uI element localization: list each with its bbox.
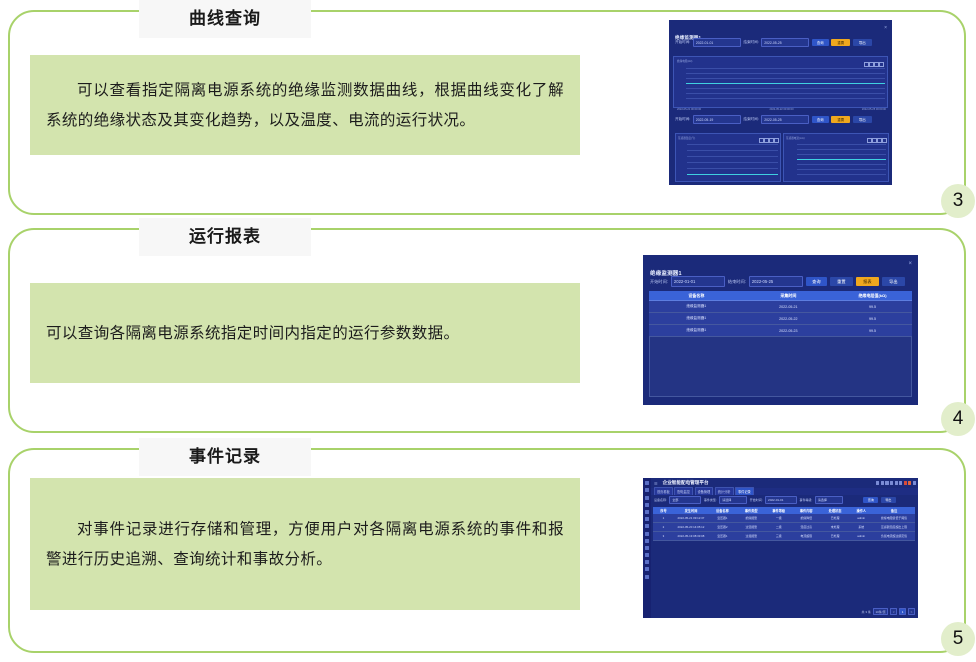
reset-button[interactable]: 重置: [831, 39, 850, 46]
section-operation-report: 运行报表 可以查询各隔离电源系统指定时间内指定的运行参数数据。 绝缘监测器1 ×…: [8, 218, 966, 433]
cell-remark: 负载电流超过额定值: [873, 534, 915, 538]
close-icon[interactable]: ×: [908, 261, 912, 267]
user-icon[interactable]: [913, 481, 916, 484]
cell-operator: admin: [849, 516, 873, 520]
chart-panel-resistance: 绝缘电阻(kΩ): [673, 56, 888, 108]
cell-remark: 互感器温度超出上限: [873, 525, 915, 529]
cell-index: 2: [653, 525, 674, 529]
screenshot-curve-query[interactable]: 绝缘监测器1 × 开始时间: 2022-01-01 结束时间: 2022-05-…: [669, 20, 892, 185]
cell-content: 温度过高: [792, 525, 821, 529]
column-header-time: 发生时间: [674, 508, 708, 513]
cell-content: 绝缘降低: [792, 516, 821, 520]
section-title: 事件记录: [189, 449, 261, 466]
section-tab-operation-report: 运行报表: [139, 218, 311, 256]
chart-unit-label: 绝缘电阻(kΩ): [677, 59, 692, 63]
column-header-level: 事件等级: [766, 508, 792, 513]
end-time-label: 结束时间:: [728, 279, 746, 285]
end-time-label-2: 结束时间:: [743, 117, 758, 122]
chart-unit-label: 互感器电流(mA): [786, 136, 805, 140]
filter-label-device: 设备名称:: [654, 498, 667, 502]
cell-time: 2022-05-23: [744, 329, 833, 333]
description-text: 可以查看指定隔离电源系统的绝缘监测数据曲线，根据曲线变化了解系统的绝缘状态及其变…: [30, 75, 580, 135]
cell-time: 2022-05-21: [744, 305, 833, 309]
refresh-icon[interactable]: [881, 481, 884, 484]
filter-label-start: 开始时间:: [750, 498, 763, 502]
app-filter-bar: 设备名称: 全部 事件类型: 请选择 开始时间: 2022-01-01 事件等级…: [651, 495, 918, 505]
message-icon[interactable]: [895, 481, 898, 484]
section-tab-curve-query: 曲线查询: [139, 0, 311, 38]
sidebar-icon-maintenance[interactable]: [645, 539, 649, 543]
start-time-input[interactable]: 2022-01-01: [693, 38, 741, 47]
sidebar-icon-help[interactable]: [645, 560, 649, 564]
cell-status: 已处理: [821, 516, 850, 520]
cell-remark: 绝缘电阻值低于阈值: [873, 516, 915, 520]
filter-row-1: 开始时间: 2022-01-01 结束时间: 2022-05-25 查询 重置 …: [675, 38, 872, 47]
sidebar-icon-user[interactable]: [645, 546, 649, 550]
report-table: 设备名称 采集时间 绝缘电阻值(kΩ) 绝缘监测器1 2022-05-21 99…: [649, 291, 912, 337]
column-header-device: 设备名称: [708, 508, 737, 513]
grid-icon[interactable]: [890, 481, 893, 484]
screenshot-operation-report[interactable]: 绝缘监测器1 × 开始时间: 2022-01-01 结束时间: 2022-05-…: [643, 255, 918, 405]
cell-level: 三级: [766, 534, 792, 538]
column-header-operator: 操作人: [849, 508, 873, 513]
export-button[interactable]: 导出: [853, 39, 872, 46]
close-icon[interactable]: ×: [884, 25, 887, 31]
cell-index: 3: [653, 534, 674, 538]
resistance-series: [686, 83, 885, 84]
cell-time: 2022-05-19 08:33:08: [674, 534, 708, 538]
sidebar-icon-home[interactable]: [645, 481, 649, 485]
cell-device: 绝缘监测器1: [649, 328, 744, 333]
expand-icon[interactable]: [882, 138, 887, 143]
end-time-label: 结束时间:: [743, 40, 758, 45]
reset-button-2[interactable]: 重置: [831, 116, 850, 123]
page-number-label: 5: [953, 628, 964, 650]
page-number-3: 3: [941, 184, 975, 218]
page-root: 曲线查询 可以查看指定隔离电源系统的绝缘监测数据曲线，根据曲线变化了解系统的绝缘…: [0, 0, 976, 662]
description-text: 可以查询各隔离电源系统指定时间内指定的运行参数数据。: [30, 318, 580, 348]
sidebar-icon-about[interactable]: [645, 575, 649, 579]
cell-type: 过温报警: [737, 525, 766, 529]
sidebar-icon-energy[interactable]: [645, 532, 649, 536]
table-row[interactable]: 绝缘监测器1 2022-05-22 99.5: [649, 313, 912, 325]
cell-type: 过载报警: [737, 534, 766, 538]
alarm-red-icon[interactable]: [904, 481, 907, 484]
report-filter-row: 开始时间: 2022-01-01 结束时间: 2022-05-25 查询 重置 …: [650, 276, 905, 287]
column-header-device: 设备名称: [649, 293, 744, 299]
cell-level: 一级: [766, 516, 792, 520]
cell-device: 变压器2: [708, 525, 737, 529]
end-time-input[interactable]: 2022-05-25: [761, 38, 809, 47]
start-time-label: 开始时间:: [675, 40, 690, 45]
query-button-2[interactable]: 查询: [812, 116, 829, 123]
cell-level: 二级: [766, 525, 792, 529]
reset-button[interactable]: 重置: [830, 277, 853, 286]
expand-icon[interactable]: [774, 138, 779, 143]
end-time-input[interactable]: 2022-05-25: [749, 276, 803, 287]
report-button[interactable]: 报表: [856, 277, 879, 286]
section-title: 运行报表: [189, 229, 261, 246]
filter-label-level: 事件等级:: [800, 498, 813, 502]
app-title: 企业智能配电管理平台: [663, 480, 709, 486]
app-sidebar[interactable]: [643, 478, 651, 618]
sidebar-icon-log[interactable]: [645, 567, 649, 571]
search-icon[interactable]: [876, 481, 879, 484]
chart-panel-current: 互感器电流(mA): [783, 133, 889, 182]
end-time-input-2[interactable]: 2022-05-25: [761, 115, 809, 124]
export-button[interactable]: 导出: [882, 277, 905, 286]
cell-device: 变压器1: [708, 534, 737, 538]
section-title: 曲线查询: [189, 11, 261, 28]
cell-device: 变压器1: [708, 516, 737, 520]
cell-operator: admin: [849, 534, 873, 538]
query-button[interactable]: 查询: [863, 497, 878, 503]
sidebar-icon-alarm[interactable]: [645, 517, 649, 521]
filter-input-level[interactable]: 请选择: [815, 496, 843, 504]
expand-icon[interactable]: [879, 62, 884, 67]
pager-total: 共 3 条: [862, 610, 871, 614]
description-text: 对事件记录进行存储和管理，方便用户对各隔离电源系统的事件和报警进行历史追溯、查询…: [30, 514, 580, 574]
sidebar-icon-device[interactable]: [645, 496, 649, 500]
cell-device: 绝缘监测器1: [649, 304, 744, 309]
fullscreen-icon[interactable]: [899, 481, 902, 484]
table-pager: 共 3 条 10条/页 < 1 >: [862, 608, 915, 615]
sidebar-icon-event[interactable]: [645, 510, 649, 514]
description-panel-event-records: 对事件记录进行存储和管理，方便用户对各隔离电源系统的事件和报警进行历史追溯、查询…: [30, 478, 580, 610]
column-header-type: 事件类型: [737, 508, 766, 513]
filter-row-2: 开始时间: 2022-05-19 结束时间: 2022-05-25 查询 重置 …: [675, 115, 872, 124]
cell-time: 2022-05-22: [744, 317, 833, 321]
table-header-row: 序号 发生时间 设备名称 事件类型 事件等级 事件内容 处理状态 操作人 备注: [653, 507, 915, 514]
column-header-remark: 备注: [873, 508, 915, 513]
cell-value: 99.5: [833, 305, 912, 309]
temperature-series: [687, 174, 778, 175]
event-table: 序号 发生时间 设备名称 事件类型 事件等级 事件内容 处理状态 操作人 备注 …: [653, 507, 915, 541]
query-button[interactable]: 查询: [812, 39, 829, 46]
cell-type: 绝缘报警: [737, 516, 766, 520]
column-header-status: 处理状态: [821, 508, 850, 513]
alarm-orange-icon[interactable]: [908, 481, 911, 484]
hamburger-icon[interactable]: ☰: [654, 481, 658, 486]
column-header-content: 事件内容: [792, 508, 821, 513]
filter-input-start[interactable]: 2022-01-01: [765, 496, 797, 504]
cell-operator: 系统: [849, 525, 873, 529]
page-prev-button[interactable]: <: [890, 608, 897, 615]
filter-input-device[interactable]: 全部: [669, 496, 701, 504]
page-1-button[interactable]: 1: [899, 608, 906, 615]
start-time-input[interactable]: 2022-01-01: [671, 276, 725, 287]
page-number-4: 4: [941, 402, 975, 436]
cell-value: 99.5: [833, 329, 912, 333]
page-next-button[interactable]: >: [908, 608, 915, 615]
section-curve-query: 曲线查询 可以查看指定隔离电源系统的绝缘监测数据曲线，根据曲线变化了解系统的绝缘…: [8, 0, 966, 215]
page-size-select[interactable]: 10条/页: [873, 608, 888, 615]
export-button[interactable]: 导出: [881, 497, 896, 503]
chart-panel-temperature: 互感器温度(℃): [675, 133, 781, 182]
filter-input-type[interactable]: 请选择: [719, 496, 747, 504]
column-header-index: 序号: [653, 508, 674, 513]
table-row[interactable]: 1 2022-05-21 09:12:37 变压器1 绝缘报警 一级 绝缘降低 …: [653, 514, 915, 523]
chart-unit-label: 互感器温度(℃): [678, 136, 695, 140]
description-panel-curve-query: 可以查看指定隔离电源系统的绝缘监测数据曲线，根据曲线变化了解系统的绝缘状态及其变…: [30, 55, 580, 155]
query-button[interactable]: 查询: [806, 277, 827, 286]
start-time-input-2[interactable]: 2022-05-19: [693, 115, 741, 124]
column-header-time: 采集时间: [744, 293, 833, 299]
cell-status: 未处理: [821, 525, 850, 529]
bell-icon[interactable]: [885, 481, 888, 484]
cell-time: 2022-05-21 09:12:37: [674, 516, 708, 520]
table-row[interactable]: 绝缘监测器1 2022-05-21 99.5: [649, 301, 912, 313]
filter-label-type: 事件类型:: [704, 498, 717, 502]
cell-time: 2022-05-20 14:05:12: [674, 525, 708, 529]
column-header-value: 绝缘电阻值(kΩ): [833, 293, 912, 299]
page-number-5: 5: [941, 622, 975, 656]
page-number-label: 4: [953, 408, 964, 430]
start-time-label: 开始时间:: [650, 279, 668, 285]
table-header-row: 设备名称 采集时间 绝缘电阻值(kΩ): [649, 291, 912, 301]
screenshot-event-records[interactable]: ☰ 企业智能配电管理平台 首页看板 配电监控 设备管理: [643, 478, 918, 618]
cell-device: 绝缘监测器1: [649, 316, 744, 321]
section-tab-event-records: 事件记录: [139, 438, 311, 476]
cell-value: 99.5: [833, 317, 912, 321]
description-panel-operation-report: 可以查询各隔离电源系统指定时间内指定的运行参数数据。: [30, 283, 580, 383]
topbar-tray: [876, 481, 916, 484]
table-row[interactable]: 3 2022-05-19 08:33:08 变压器1 过载报警 三级 电流超限 …: [653, 532, 915, 541]
table-row[interactable]: 绝缘监测器1 2022-05-23 99.5: [649, 325, 912, 337]
table-row[interactable]: 2 2022-05-20 14:05:12 变压器2 过温报警 二级 温度过高 …: [653, 523, 915, 532]
export-button-2[interactable]: 导出: [853, 116, 872, 123]
page-number-label: 3: [953, 190, 964, 212]
cell-index: 1: [653, 516, 674, 520]
cell-status: 已处理: [821, 534, 850, 538]
chart-xaxis-resistance: 2022-05-21 00:00:00 2022-05-22 00:00:00 …: [677, 108, 886, 111]
current-series: [797, 159, 886, 160]
section-event-records: 事件记录 对事件记录进行存储和管理，方便用户对各隔离电源系统的事件和报警进行历史…: [8, 438, 966, 653]
start-time-label-2: 开始时间:: [675, 117, 690, 122]
cell-content: 电流超限: [792, 534, 821, 538]
sidebar-icon-monitor[interactable]: [645, 488, 649, 492]
sidebar-icon-report[interactable]: [645, 524, 649, 528]
sidebar-icon-settings[interactable]: [645, 553, 649, 557]
sidebar-icon-chart[interactable]: [645, 503, 649, 507]
